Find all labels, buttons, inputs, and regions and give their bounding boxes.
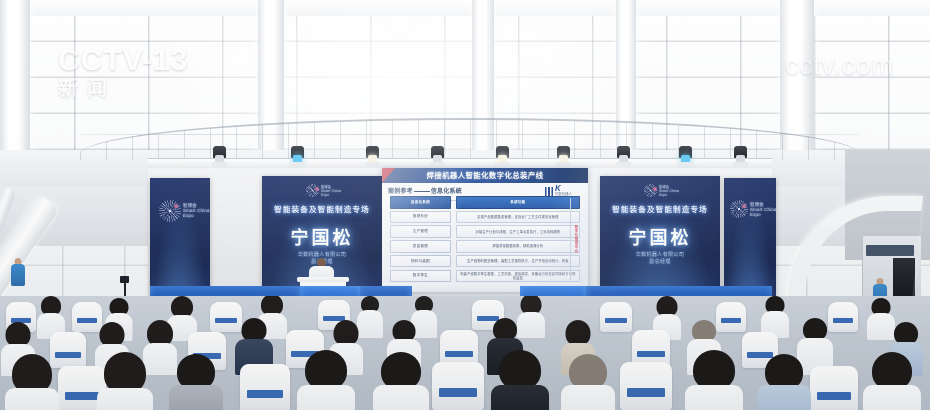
expo-word-en2: Expo [750,212,761,217]
table-cell-desc: 生产线物料配送管理，装配工艺指导执行，生产节拍自动统计、看板 [456,255,580,268]
audience-member [862,352,922,410]
moving-head-light [678,146,693,166]
table-row: 管理系统 [390,211,451,224]
audience-member [372,352,430,410]
audience-member [168,354,224,410]
moving-head-light [733,146,748,166]
smart-china-expo-logo [644,184,657,197]
audience-member [684,350,744,410]
table-cell-desc: 构建产线数字孪生模型，工艺仿真、虚拟调试、设备运行状态实时映射与可视化监控 [456,270,580,283]
slide-subtitle-prefix: 案例参考 [388,189,413,195]
audience-member [560,354,616,410]
audience-member [96,352,154,410]
table-col-header-1: 信息化系统 [390,196,451,209]
speaker-name-left: 宁国松 [262,224,382,250]
audience-seating-area [0,296,930,410]
slide-content-table: 信息化系统 管理系统 生产管理 质量管理 物料与装配 数字孪生 系统功能 实现产… [390,196,580,282]
slide-title: 焊接机器人智能化数字化总装产线 [382,170,588,181]
audience-member [760,296,790,336]
audience-member [296,350,356,410]
subtitle-rule [414,191,430,192]
moving-head-light [212,146,227,166]
audience-chair [240,364,290,410]
audience-chair [600,302,632,332]
speaker-name-right: 宁国松 [600,224,720,250]
screenshot-root: 智博会 Smart China Expo 智博会 Smart China Exp… [0,0,930,410]
expo-logo-wordmark: 智博会 Smart China Expo [321,186,341,197]
stage-light-truss [150,146,770,168]
table-connector-line [451,200,456,201]
smart-china-expo-logo [306,184,319,197]
video-camera [120,276,129,283]
slide-subtitle: 案例参考信息化系统 [388,186,462,195]
speaker-affiliation-right: 华数机器人有限公司 [600,252,720,260]
presentation-screen: 焊接机器人智能化数字化总装产线 K 华数机器人 案例参考信息化系统 信息化系统 … [382,168,588,292]
audience-chair [620,362,672,410]
session-title-left: 智能装备及智能制造专场 [262,204,382,215]
expo-logo-wordmark: 智博会 Smart China Expo [750,202,776,218]
side-note-text: 数字化管理平台 [574,225,579,253]
speaker-title-right: 副总经理 [600,259,720,267]
slide-side-note: 数字化管理平台 [572,198,581,280]
expo-logo-wordmark: 智博会 Smart China Expo [183,203,210,219]
smart-china-expo-logo [730,200,748,218]
expo-word-en2: Expo [321,193,329,197]
moving-head-light [495,146,510,166]
audience-chair [432,362,484,410]
expo-word-en2: Expo [183,213,194,218]
moving-head-light [365,146,380,166]
table-row: 生产管理 [390,225,451,238]
session-title-right: 智能装备及智能制造专场 [600,204,720,215]
slide-subtitle-main: 信息化系统 [431,189,462,195]
table-cell-desc: 焊接质量数据采集，缺陷追溯分析 [456,240,580,253]
table-row: 数字孪生 [390,270,451,283]
moving-head-light [556,146,571,166]
led-banner-right-logo: 智博会 Smart China Expo [724,178,776,298]
table-right-column: 系统功能 实现产品数据集成管理，支持全厂工艺文件规范化管理 对接生产计划与排程，… [456,196,580,282]
table-row: 物料与装配 [390,255,451,268]
audience-member [756,354,812,410]
expo-logo-wordmark: 智博会 Smart China Expo [659,186,679,197]
audience-member [4,354,60,410]
table-cell-desc: 实现产品数据集成管理，支持全厂工艺文件规范化管理 [456,211,580,224]
expo-word-en2: Expo [659,193,667,197]
event-staff-left [10,258,26,288]
audience-member [36,296,66,336]
side-note-rule [570,198,571,280]
table-left-column: 信息化系统 管理系统 生产管理 质量管理 物料与装配 数字孪生 [390,196,451,282]
audience-member [490,350,550,410]
led-banner-right-main: 智博会 Smart China Expo 智能装备及智能制造专场 宁国松 华数机… [600,176,720,298]
table-cell-desc: 对接生产计划与排程，生产工单派发执行，工序流转跟踪 [456,225,580,238]
moving-head-light [430,146,445,166]
audience-chair [810,366,858,410]
moving-head-light [616,146,631,166]
logo-bars-icon [545,187,553,196]
table-row: 质量管理 [390,240,451,253]
moving-head-light [290,146,305,166]
smart-china-expo-logo [159,200,181,222]
table-col-header-2: 系统功能 [456,196,580,209]
led-banner-left-logo: 智博会 Smart China Expo [150,178,210,298]
